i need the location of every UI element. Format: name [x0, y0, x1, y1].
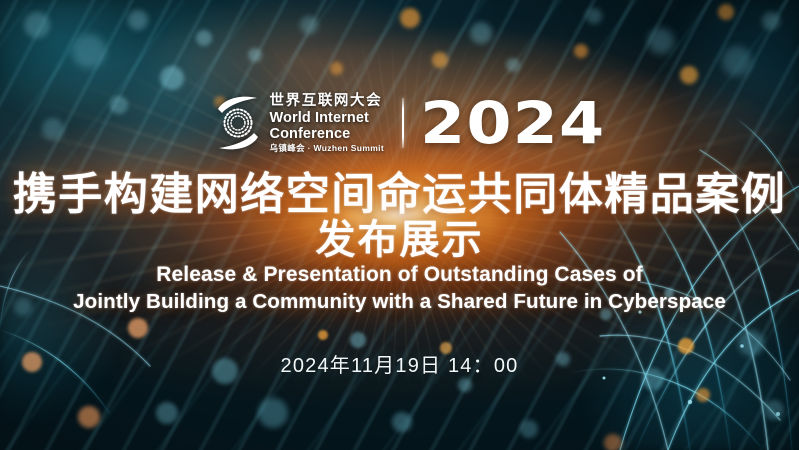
subtitle-en: Release & Presentation of Outstanding Ca… [0, 262, 799, 315]
conference-poster: 世界互联网大会 World Internet Conference 乌镇峰会 ·… [0, 0, 799, 450]
conference-brand-lockup: 世界互联网大会 World Internet Conference 乌镇峰会 ·… [214, 92, 385, 154]
subtitle-en-line2: Jointly Building a Community with a Shar… [0, 289, 799, 315]
subtitle-en-line1: Release & Presentation of Outstanding Ca… [0, 262, 799, 289]
event-datetime: 2024年11月19日 14：00 [0, 349, 799, 378]
main-title-cn-line1: 携手构建网络空间命运共同体精品案例 [0, 173, 799, 217]
header-row: 世界互联网大会 World Internet Conference 乌镇峰会 ·… [0, 84, 799, 162]
header-vertical-divider [402, 98, 404, 148]
year-label: 2024 [420, 94, 605, 152]
conference-wordmark: 世界互联网大会 World Internet Conference 乌镇峰会 ·… [270, 94, 385, 153]
world-internet-conference-emblem-icon [214, 92, 262, 154]
brand-summit-line: 乌镇峰会 · Wuzhen Summit [270, 144, 385, 153]
brand-name-cn: 世界互联网大会 [270, 94, 385, 109]
main-title-cn-line2: 发布展示 [0, 220, 799, 260]
brand-name-en-line1: World Internet [270, 111, 385, 126]
brand-name-en-line2: Conference [270, 127, 385, 142]
poster-content: 世界互联网大会 World Internet Conference 乌镇峰会 ·… [0, 0, 799, 450]
